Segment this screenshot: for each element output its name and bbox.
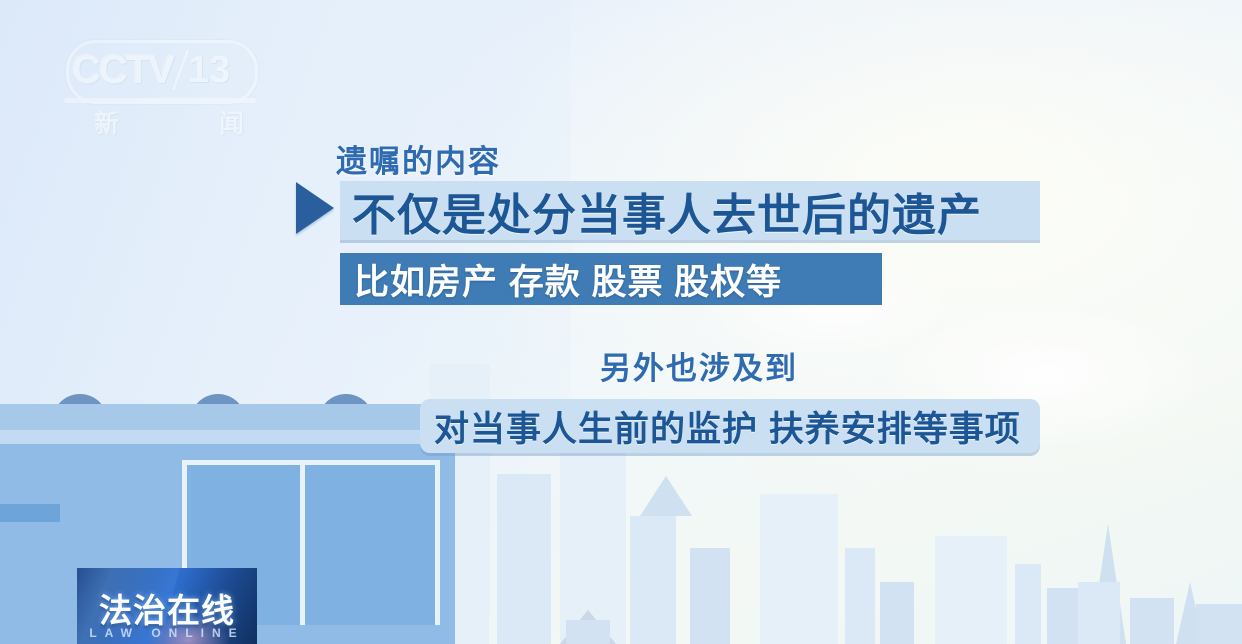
broadcast-frame: CCTV 13 新 闻 遗嘱的内容 不仅是处分当事人去世后的遗产 比如房产 存款… (0, 0, 1242, 644)
cctv-sub-left: 新 (94, 104, 119, 140)
caption-highlight-2: 对当事人生前的监护 扶养安排等事项 (420, 399, 1040, 453)
bench-post (0, 504, 60, 522)
program-name-en: LAW ONLINE (89, 626, 244, 640)
caption-label-1: 遗嘱的内容 (336, 136, 501, 181)
cctv-13-logo: CCTV 13 新 闻 (72, 44, 252, 136)
caption-highlight-1-text: 不仅是处分当事人去世后的遗产 (352, 179, 982, 243)
program-name-cn: 法治在线 (99, 584, 235, 632)
bench-counter-edge (0, 430, 455, 444)
program-logo: 法治在线 LAW ONLINE (77, 568, 257, 644)
cctv-logo-ring (66, 40, 258, 104)
bench-panel (300, 460, 440, 625)
cctv-sub-right: 闻 (219, 104, 244, 140)
cctv-logo-underline (64, 98, 256, 103)
caption-label-2: 另外也涉及到 (600, 343, 798, 388)
bench-counter-top (0, 404, 455, 430)
play-triangle-marker (296, 182, 334, 234)
caption-sub-1: 比如房产 存款 股票 股权等 (340, 253, 882, 305)
caption-sub-1-text: 比如房产 存款 股票 股权等 (354, 254, 782, 305)
caption-highlight-2-text: 对当事人生前的监护 扶养安排等事项 (434, 401, 1021, 452)
caption-highlight-1: 不仅是处分当事人去世后的遗产 (340, 181, 1040, 240)
